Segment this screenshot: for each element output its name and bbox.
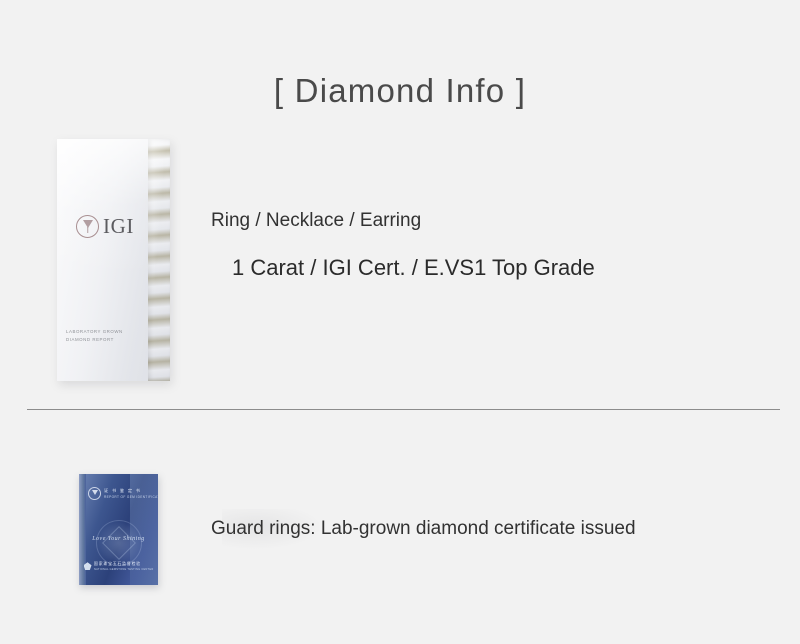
booklet-emblem-icon: [88, 487, 101, 500]
diamond-watermark-icon: [96, 520, 142, 566]
certificate-booklet-image: 证 书 鉴 定 书 REPORT OF GEM IDENTIFICATION L…: [79, 474, 158, 585]
igi-logo: IGI: [76, 215, 134, 238]
igi-seal-icon: [76, 215, 99, 238]
booklet-footer-en: NATIONAL GEMSTONE TESTING CENTER: [94, 568, 154, 571]
guard-ring-section: 证 书 鉴 定 书 REPORT OF GEM IDENTIFICATION L…: [0, 474, 800, 604]
booklet-header: 证 书 鉴 定 书 REPORT OF GEM IDENTIFICATION: [88, 487, 158, 500]
booklet-header-text: 证 书 鉴 定 书 REPORT OF GEM IDENTIFICATION: [104, 488, 158, 499]
booklet-footer-cn: 国家珠宝玉石监督检验: [94, 562, 154, 567]
booklet-script-text: Love Your Shining: [92, 536, 145, 542]
booklet-footer-text: 国家珠宝玉石监督检验 NATIONAL GEMSTONE TESTING CEN…: [94, 562, 154, 571]
foil-texture: [148, 139, 170, 381]
gold-foil-strip: [148, 139, 170, 381]
booklet-title-cn: 证 书 鉴 定 书: [104, 488, 158, 494]
guard-ring-caption: Guard rings: Lab-grown diamond certifica…: [211, 518, 636, 540]
diamond-spec-line: 1 Carat / IGI Cert. / E.VS1 Top Grade: [232, 255, 595, 281]
section-divider: [27, 409, 780, 410]
booklet-footer-logo: 国家珠宝玉石监督检验 NATIONAL GEMSTONE TESTING CEN…: [84, 562, 154, 571]
product-types-line: Ring / Necklace / Earring: [211, 210, 421, 232]
igi-report-fineprint: LABORATORY GROWN DIAMOND REPORT: [66, 328, 123, 344]
booklet-title-en: REPORT OF GEM IDENTIFICATION: [104, 495, 158, 499]
diamond-info-section: IGI LABORATORY GROWN DIAMOND REPORT Ring…: [0, 139, 800, 389]
diamond-info-page: [ Diamond Info ] IGI LABORATORY GROWN DI…: [0, 0, 800, 644]
igi-wordmark: IGI: [103, 216, 134, 237]
gem-icon: [84, 562, 92, 570]
page-title: [ Diamond Info ]: [0, 72, 800, 110]
igi-certificate-image: IGI LABORATORY GROWN DIAMOND REPORT: [57, 139, 170, 381]
